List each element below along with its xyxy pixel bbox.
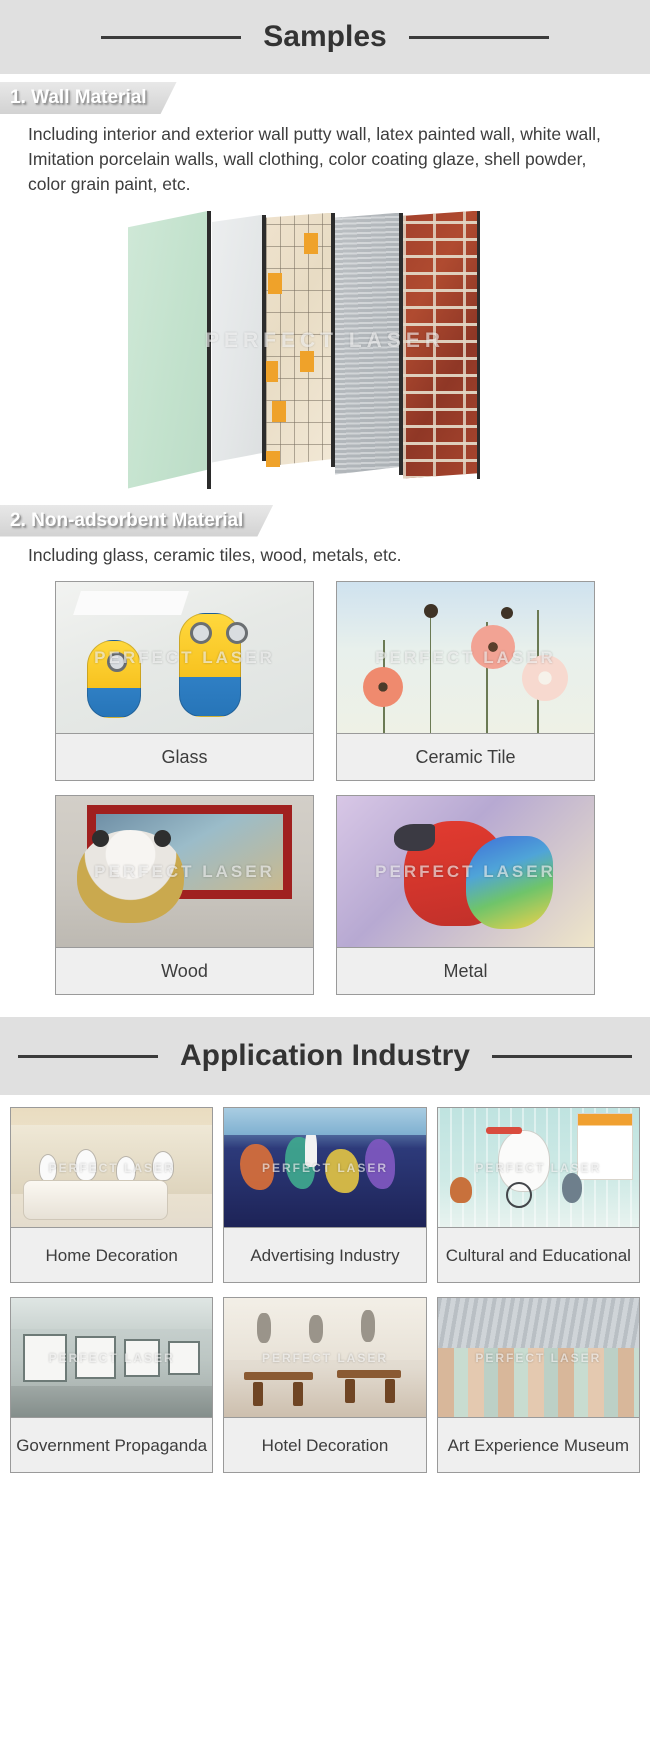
notice-board [124,1339,160,1377]
wall-panel-mosaic-accent-4 [300,351,314,372]
material-image-metal: PERFECT LASER [337,796,594,948]
hotel-decoration-scene [224,1298,425,1417]
sofa [23,1180,168,1220]
crane-bird [75,1149,97,1181]
industry-image-home-decoration: PERFECT LASER [11,1108,212,1228]
notice-board [23,1334,67,1382]
industry-label-advertising: Advertising Industry [224,1228,425,1282]
material-label-glass: Glass [56,734,313,780]
industry-label-art-experience-museum: Art Experience Museum [438,1418,639,1472]
material-label-wood: Wood [56,948,313,994]
metal-scene [337,796,594,947]
glass-scene [56,582,313,733]
industry-section-header: Application Industry [0,1017,650,1095]
window-curtain [577,1113,633,1180]
flower-bud [501,607,513,619]
small-animal [450,1177,472,1203]
industry-card-grid: PERFECT LASER Home Decoration PERFECT LA… [0,1095,650,1473]
dining-chair [293,1382,303,1406]
wall-panel-brick-edge [477,211,480,479]
industry-card-advertising[interactable]: PERFECT LASER Advertising Industry [223,1107,426,1283]
mural-blob [325,1149,359,1193]
corridor-floor [438,1398,639,1417]
industry-card-art-experience-museum[interactable]: PERFECT LASER Art Experience Museum [437,1297,640,1473]
industry-label-government-propaganda: Government Propaganda [11,1418,212,1472]
industry-rule-left [18,1055,158,1058]
industry-rule-right [492,1055,632,1058]
material-image-ceramic-tile: PERFECT LASER [337,582,594,734]
small-animal [562,1173,582,1203]
dining-chair [385,1379,395,1403]
dining-table [244,1372,312,1380]
dining-chair [345,1379,355,1403]
flower-bloom [363,667,403,707]
wall-panel-mosaic [266,213,334,467]
section-2-ribbon: 2. Non-adsorbent Material [0,505,273,537]
wall-panel-putty-edge [262,215,266,461]
mural-blob [240,1144,274,1190]
panda-ear-right [154,830,171,847]
flower-bud [424,604,438,618]
wall-panel-brick [403,211,480,479]
industry-image-art-experience-museum: PERFECT LASER [438,1298,639,1418]
section-1-ribbon-label: 1. Wall Material [10,87,147,109]
ceiling-light [73,591,189,615]
section-2-ribbon-wrap: 2. Non-adsorbent Material [0,505,650,537]
industry-title: Application Industry [180,1039,470,1073]
wall-panel-putty [212,215,264,463]
minion-large-goggle-left [190,622,212,644]
material-image-glass: PERFECT LASER [56,582,313,734]
wall-material-illustration: PERFECT LASER [0,203,650,493]
notice-board [168,1341,200,1374]
home-decoration-scene [11,1108,212,1227]
industry-card-cultural-educational[interactable]: PERFECT LASER Cultural and Educational [437,1107,640,1283]
parrot-wing [466,836,553,930]
wood-scene [56,796,313,947]
industry-image-government-propaganda: PERFECT LASER [11,1298,212,1418]
section-1-ribbon-wrap: 1. Wall Material [0,82,650,114]
wall-panel-mosaic-accent-1 [304,233,318,254]
industry-image-hotel-decoration: PERFECT LASER [224,1298,425,1418]
industry-label-cultural-educational: Cultural and Educational [438,1228,639,1282]
industry-image-advertising: PERFECT LASER [224,1108,425,1228]
crane-bird [152,1151,174,1181]
sky-strip [224,1108,425,1134]
material-label-ceramic-tile: Ceramic Tile [337,734,594,780]
wall-panel-mosaic-accent-6 [266,451,280,467]
pavement [11,1386,212,1417]
wall-panel-mosaic-accent-2 [268,273,282,294]
mural-figure [309,1315,323,1343]
wall-panel-glass [128,211,210,489]
dining-table [337,1370,401,1378]
section-1-ribbon: 1. Wall Material [0,82,177,114]
sky [11,1298,212,1329]
art-experience-museum-scene [438,1298,639,1417]
tunnel-vault-ceiling [438,1298,639,1353]
industry-image-cultural-educational: PERFECT LASER [438,1108,639,1228]
material-image-wood: PERFECT LASER [56,796,313,948]
material-card-metal[interactable]: PERFECT LASER Metal [336,795,595,995]
wall-panel-concrete [335,213,402,475]
mural-blob [365,1139,395,1189]
advertising-scene [224,1108,425,1227]
wall-panel-mosaic-accent-5 [272,401,286,422]
wall-panel-mosaic-edge [331,213,335,467]
material-card-grid: PERFECT LASER Glass PERFECT LASER Cerami… [0,571,650,995]
industry-label-hotel-decoration: Hotel Decoration [224,1418,425,1472]
material-label-metal: Metal [337,948,594,994]
wall-panel-glass-edge [207,211,211,489]
material-card-glass[interactable]: PERFECT LASER Glass [55,581,314,781]
section-2-description: Including glass, ceramic tiles, wood, me… [0,537,650,572]
section-1-description: Including interior and exterior wall put… [0,114,650,197]
industry-card-hotel-decoration[interactable]: PERFECT LASER Hotel Decoration [223,1297,426,1473]
bear-scarf [486,1127,522,1134]
industry-label-home-decoration: Home Decoration [11,1228,212,1282]
header-rule-left [101,36,241,39]
cultural-educational-scene [438,1108,639,1227]
flower-stem [430,613,432,734]
material-card-wood[interactable]: PERFECT LASER Wood [55,795,314,995]
wall-panel-concrete-edge [399,213,403,475]
crane-bird [39,1154,57,1182]
page-title: Samples [263,20,386,54]
government-propaganda-scene [11,1298,212,1417]
ceramic-tile-scene [337,582,594,733]
material-card-ceramic-tile[interactable]: PERFECT LASER Ceramic Tile [336,581,595,781]
sketch-mural [224,1298,425,1360]
flower-bloom [522,655,568,701]
industry-card-home-decoration[interactable]: PERFECT LASER Home Decoration [10,1107,213,1283]
minion-large-goggle-right [226,622,248,644]
flower-bloom [471,625,515,669]
mural-figure [257,1313,271,1343]
header-rule-right [409,36,549,39]
parrot-beak [394,824,435,851]
panda-ear-left [92,830,109,847]
dining-chair [253,1382,263,1406]
industry-card-government-propaganda[interactable]: PERFECT LASER Government Propaganda [10,1297,213,1473]
section-2-ribbon-label: 2. Non-adsorbent Material [10,510,243,532]
mural-figure [361,1310,375,1342]
samples-section-header: Samples [0,0,650,74]
wall-panel-mosaic-accent-3 [266,361,278,382]
notice-board [75,1336,115,1379]
